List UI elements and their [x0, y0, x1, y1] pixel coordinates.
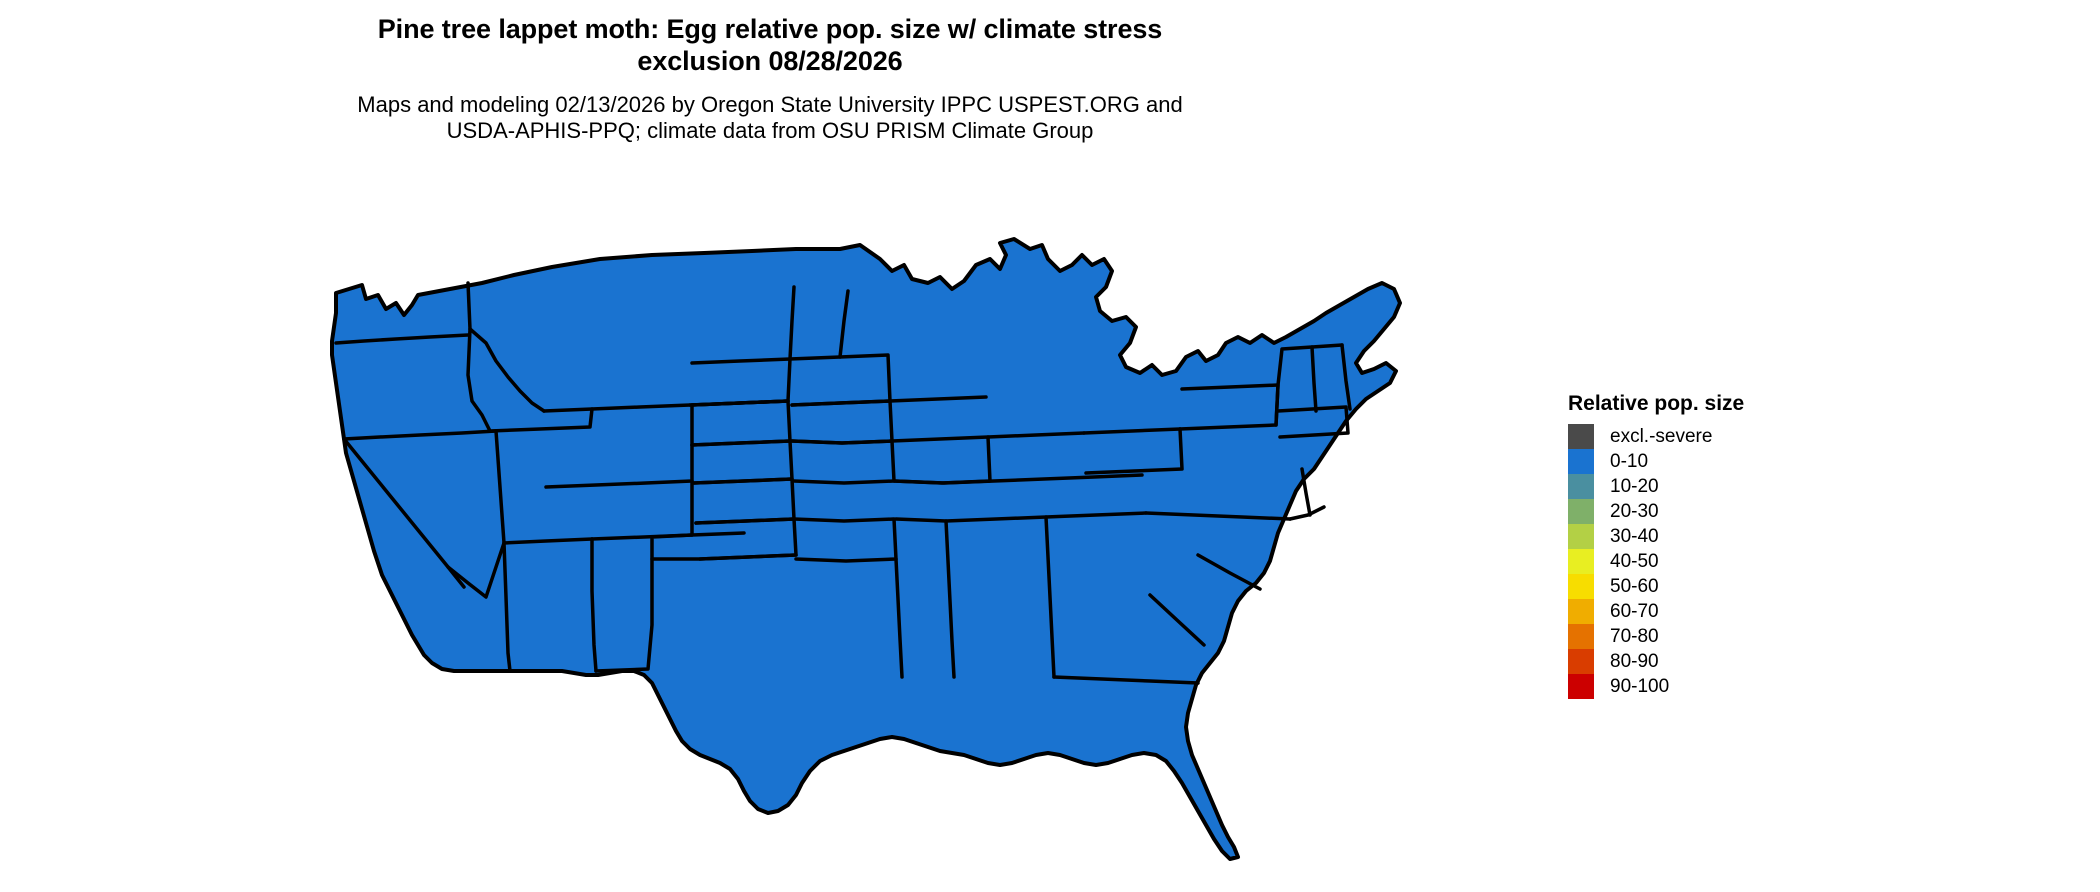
- legend-label: 40-50: [1594, 549, 1659, 574]
- page-subtitle: Maps and modeling 02/13/2026 by Oregon S…: [0, 78, 1540, 145]
- legend-row: 40-50: [1568, 549, 1744, 574]
- page-title: Pine tree lappet moth: Egg relative pop.…: [0, 14, 1540, 78]
- legend-label: 10-20: [1594, 474, 1659, 499]
- legend-swatch: [1568, 549, 1594, 574]
- map-legend: Relative pop. size excl.-severe0-1010-20…: [1568, 392, 1744, 699]
- legend-label: 0-10: [1594, 449, 1648, 474]
- legend-swatch: [1568, 524, 1594, 549]
- legend-title: Relative pop. size: [1568, 392, 1744, 416]
- legend-swatch: [1568, 449, 1594, 474]
- legend-entries: excl.-severe0-1010-2020-3030-4040-5050-6…: [1568, 424, 1744, 699]
- us-map-svg: [300, 225, 1550, 865]
- legend-swatch: [1568, 424, 1594, 449]
- legend-swatch: [1568, 474, 1594, 499]
- legend-row: 60-70: [1568, 599, 1744, 624]
- legend-row: excl.-severe: [1568, 424, 1744, 449]
- legend-swatch: [1568, 624, 1594, 649]
- legend-label: excl.-severe: [1594, 424, 1712, 449]
- legend-row: 30-40: [1568, 524, 1744, 549]
- legend-row: 50-60: [1568, 574, 1744, 599]
- legend-label: 60-70: [1594, 599, 1659, 624]
- legend-row: 20-30: [1568, 499, 1744, 524]
- title-block: Pine tree lappet moth: Egg relative pop.…: [0, 14, 1540, 145]
- legend-row: 10-20: [1568, 474, 1744, 499]
- legend-swatch: [1568, 649, 1594, 674]
- legend-row: 0-10: [1568, 449, 1744, 474]
- legend-label: 20-30: [1594, 499, 1659, 524]
- choropleth-map[interactable]: [300, 225, 1550, 865]
- legend-row: 90-100: [1568, 674, 1744, 699]
- state-border: [1290, 507, 1324, 519]
- legend-row: 80-90: [1568, 649, 1744, 674]
- legend-row: 70-80: [1568, 624, 1744, 649]
- legend-swatch: [1568, 499, 1594, 524]
- map-base-fill: [300, 225, 1550, 865]
- legend-swatch: [1568, 674, 1594, 699]
- map-raster-layer: [300, 225, 1550, 865]
- legend-label: 50-60: [1594, 574, 1659, 599]
- map-page: Pine tree lappet moth: Egg relative pop.…: [0, 0, 2100, 892]
- legend-label: 80-90: [1594, 649, 1659, 674]
- legend-label: 70-80: [1594, 624, 1659, 649]
- legend-swatch: [1568, 574, 1594, 599]
- legend-swatch: [1568, 599, 1594, 624]
- legend-label: 30-40: [1594, 524, 1659, 549]
- legend-label: 90-100: [1594, 674, 1669, 699]
